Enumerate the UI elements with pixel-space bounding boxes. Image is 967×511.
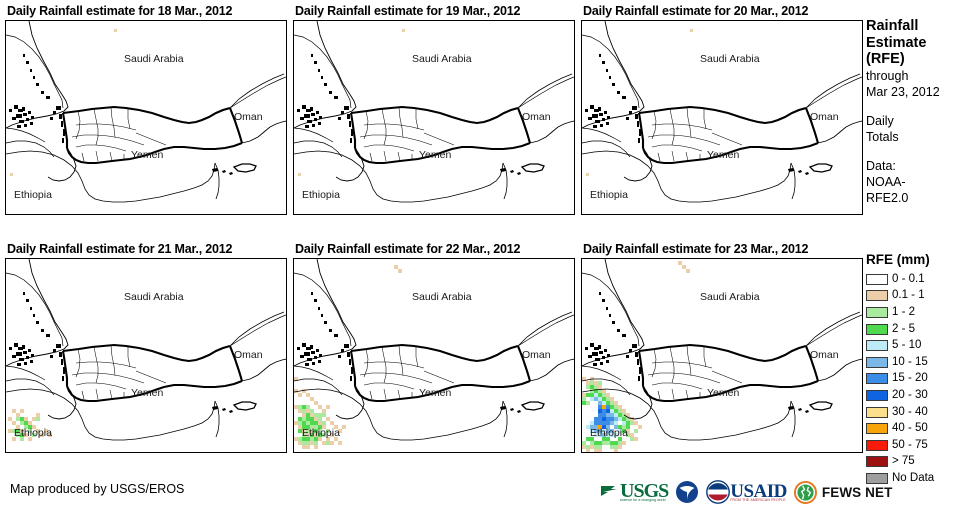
usgs-logo-tagline: science for a changing world xyxy=(620,499,668,503)
legend-label: 5 - 10 xyxy=(892,340,921,351)
map-canvas: Saudi ArabiaOmanYemenEthiopiaSomalia xyxy=(5,258,287,453)
legend-item: 10 - 15 xyxy=(866,354,967,371)
map-panel-18-mar-2012: Daily Rainfall estimate for 18 Mar., 201… xyxy=(5,3,287,215)
legend-item: 40 - 50 xyxy=(866,420,967,437)
legend: RFE (mm) 0 - 0.10.1 - 11 - 22 - 55 - 101… xyxy=(866,252,967,487)
sidebar-title-line2: Estimate xyxy=(866,35,967,52)
legend-swatch xyxy=(866,274,888,285)
sidebar-through-line: through xyxy=(866,68,967,84)
map-geometry xyxy=(6,259,286,452)
legend-label: 15 - 20 xyxy=(892,373,928,384)
legend-swatch xyxy=(866,307,888,318)
map-panel-19-mar-2012: Daily Rainfall estimate for 19 Mar., 201… xyxy=(293,3,575,215)
legend-swatch xyxy=(866,423,888,434)
legend-label: 50 - 75 xyxy=(892,440,928,451)
legend-label: 2 - 5 xyxy=(892,324,915,335)
legend-label: 1 - 2 xyxy=(892,307,915,318)
legend-label: 40 - 50 xyxy=(892,423,928,434)
map-credit: Map produced by USGS/EROS xyxy=(10,482,184,496)
usgs-logo: USGS science for a changing world xyxy=(600,479,668,505)
map-panel-23-mar-2012: Daily Rainfall estimate for 23 Mar., 201… xyxy=(581,241,863,453)
legend-item: 30 - 40 xyxy=(866,404,967,421)
sidebar-daily: Daily xyxy=(866,113,967,129)
fews-logo: FEWS NET xyxy=(794,479,893,505)
legend-swatch xyxy=(866,440,888,451)
legend-item: 0.1 - 1 xyxy=(866,288,967,305)
map-canvas: Saudi ArabiaOmanYemenEthiopiaSomalia xyxy=(5,20,287,215)
map-panel-20-mar-2012: Daily Rainfall estimate for 20 Mar., 201… xyxy=(581,3,863,215)
legend-swatch xyxy=(866,357,888,368)
legend-swatch xyxy=(866,407,888,418)
sidebar-totals: Totals xyxy=(866,129,967,145)
fews-logo-text: FEWS NET xyxy=(822,485,893,500)
legend-rows: 0 - 0.10.1 - 11 - 22 - 55 - 1010 - 1515 … xyxy=(866,271,967,487)
legend-item: 50 - 75 xyxy=(866,437,967,454)
panel-title: Daily Rainfall estimate for 23 Mar., 201… xyxy=(583,241,808,257)
legend-label: 30 - 40 xyxy=(892,407,928,418)
fews-globe-icon xyxy=(794,481,817,504)
legend-swatch xyxy=(866,340,888,351)
sidebar-data-label: Data: xyxy=(866,158,967,174)
panel-title: Daily Rainfall estimate for 18 Mar., 201… xyxy=(7,3,232,19)
legend-label: 20 - 30 xyxy=(892,390,928,401)
map-panel-21-mar-2012: Daily Rainfall estimate for 21 Mar., 201… xyxy=(5,241,287,453)
sidebar-title-line3: (RFE) xyxy=(866,51,967,68)
legend-swatch xyxy=(866,456,888,467)
sidebar-data-source1: NOAA- xyxy=(866,174,967,190)
legend-item: 2 - 5 xyxy=(866,321,967,338)
map-canvas: Saudi ArabiaOmanYemenEthiopiaSomalia xyxy=(581,20,863,215)
legend-swatch xyxy=(866,290,888,301)
logo-strip: USGS science for a changing world USAID … xyxy=(600,478,892,506)
panel-title: Daily Rainfall estimate for 19 Mar., 201… xyxy=(295,3,520,19)
sidebar-data-source2: RFE2.0 xyxy=(866,190,967,206)
legend-item: > 75 xyxy=(866,454,967,471)
map-geometry xyxy=(582,259,862,452)
legend-item: 1 - 2 xyxy=(866,304,967,321)
sidebar-title: Rainfall Estimate (RFE) xyxy=(866,18,967,68)
map-geometry xyxy=(294,259,574,452)
map-geometry xyxy=(582,21,862,214)
sidebar: Rainfall Estimate (RFE) through Mar 23, … xyxy=(864,0,967,511)
legend-title: RFE (mm) xyxy=(866,252,967,267)
usgs-mark-icon xyxy=(600,482,620,502)
sidebar-title-line1: Rainfall xyxy=(866,18,967,35)
map-canvas: Saudi ArabiaOmanYemenEthiopiaSomalia xyxy=(293,20,575,215)
usaid-logo: USAID FROM THE AMERICAN PEOPLE xyxy=(706,479,787,505)
panel-title: Daily Rainfall estimate for 22 Mar., 201… xyxy=(295,241,520,257)
panel-title: Daily Rainfall estimate for 21 Mar., 201… xyxy=(7,241,232,257)
noaa-seal-icon xyxy=(675,480,699,504)
legend-label: 10 - 15 xyxy=(892,357,928,368)
legend-swatch xyxy=(866,373,888,384)
legend-item: 20 - 30 xyxy=(866,387,967,404)
legend-item: 5 - 10 xyxy=(866,337,967,354)
map-canvas: Saudi ArabiaOmanYemenEthiopiaSomalia xyxy=(581,258,863,453)
legend-swatch xyxy=(866,390,888,401)
legend-label: 0 - 0.1 xyxy=(892,274,925,285)
map-panel-22-mar-2012: Daily Rainfall estimate for 22 Mar., 201… xyxy=(293,241,575,453)
legend-item: 15 - 20 xyxy=(866,371,967,388)
map-canvas: Saudi ArabiaOmanYemenEthiopiaSomalia xyxy=(293,258,575,453)
legend-item: 0 - 0.1 xyxy=(866,271,967,288)
noaa-logo xyxy=(675,479,699,505)
panel-title: Daily Rainfall estimate for 20 Mar., 201… xyxy=(583,3,808,19)
usaid-seal-icon xyxy=(706,480,730,504)
legend-label: 0.1 - 1 xyxy=(892,290,925,301)
sidebar-through-date: Mar 23, 2012 xyxy=(866,84,967,100)
legend-swatch xyxy=(866,324,888,335)
map-geometry xyxy=(294,21,574,214)
legend-label: > 75 xyxy=(892,456,915,467)
usaid-logo-tagline: FROM THE AMERICAN PEOPLE xyxy=(730,499,787,502)
map-geometry xyxy=(6,21,286,214)
legend-label: No Data xyxy=(892,473,934,484)
